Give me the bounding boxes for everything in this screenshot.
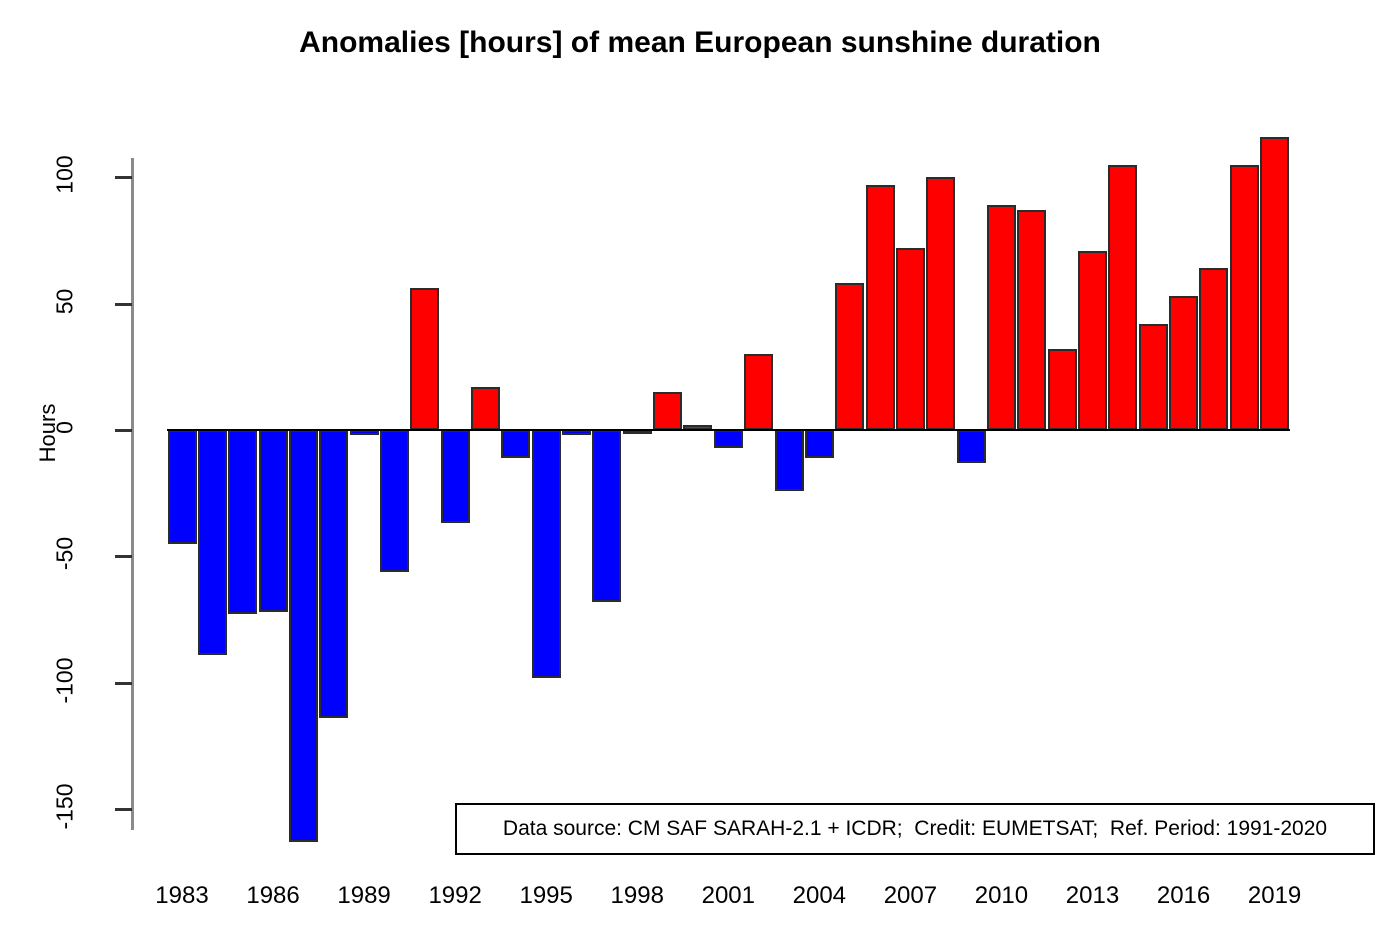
bar-2009 bbox=[957, 430, 986, 463]
bar-2014 bbox=[1108, 165, 1137, 430]
y-axis-tick-label: 50 bbox=[52, 266, 79, 336]
y-axis-tick-label: -50 bbox=[52, 519, 79, 589]
bar-2005 bbox=[835, 283, 864, 430]
bar-1985 bbox=[228, 430, 257, 614]
y-axis-line bbox=[131, 158, 134, 830]
bar-1995 bbox=[532, 430, 561, 678]
x-axis-tick-label: 1989 bbox=[324, 882, 404, 910]
bar-1999 bbox=[653, 392, 682, 430]
bar-2010 bbox=[987, 205, 1016, 430]
plot-area bbox=[150, 120, 1370, 840]
bar-2018 bbox=[1230, 165, 1259, 430]
x-axis-tick-label: 1992 bbox=[415, 882, 495, 910]
bar-1987 bbox=[289, 430, 318, 842]
y-axis-tick-label: -100 bbox=[52, 645, 79, 715]
y-axis-tick bbox=[115, 682, 132, 685]
x-axis-tick-label: 2004 bbox=[779, 882, 859, 910]
bar-1984 bbox=[198, 430, 227, 655]
x-axis-tick-label: 1995 bbox=[506, 882, 586, 910]
x-axis-tick-label: 1998 bbox=[597, 882, 677, 910]
page-title: Anomalies [hours] of mean European sunsh… bbox=[0, 26, 1400, 60]
y-axis-tick bbox=[115, 555, 132, 558]
bar-1986 bbox=[259, 430, 288, 612]
bar-2001 bbox=[714, 430, 743, 448]
bar-1991 bbox=[410, 288, 439, 430]
bar-2017 bbox=[1199, 268, 1228, 430]
bar-2004 bbox=[805, 430, 834, 458]
bar-1983 bbox=[168, 430, 197, 544]
bar-2008 bbox=[926, 177, 955, 430]
y-axis-tick bbox=[115, 429, 132, 432]
bar-1997 bbox=[592, 430, 621, 602]
bar-2011 bbox=[1017, 210, 1046, 430]
y-axis-tick-label: 100 bbox=[52, 140, 79, 210]
y-axis-title: Hours bbox=[35, 363, 61, 503]
bar-1988 bbox=[319, 430, 348, 718]
x-axis-tick-label: 2019 bbox=[1235, 882, 1315, 910]
x-axis-tick-label: 2016 bbox=[1144, 882, 1224, 910]
bar-2002 bbox=[744, 354, 773, 430]
x-axis-tick-label: 2001 bbox=[688, 882, 768, 910]
x-axis-tick-label: 2007 bbox=[870, 882, 950, 910]
bar-2016 bbox=[1169, 296, 1198, 430]
y-axis-tick bbox=[115, 808, 132, 811]
bar-2013 bbox=[1078, 251, 1107, 430]
x-axis-tick-label: 1986 bbox=[233, 882, 313, 910]
x-axis-tick-label: 1983 bbox=[142, 882, 222, 910]
y-axis-tick bbox=[115, 303, 132, 306]
bar-1992 bbox=[441, 430, 470, 523]
y-axis-tick bbox=[115, 176, 132, 179]
bar-2003 bbox=[775, 430, 804, 491]
y-axis-tick-label: -150 bbox=[52, 772, 79, 842]
bar-2012 bbox=[1048, 349, 1077, 430]
bar-2019 bbox=[1260, 137, 1289, 430]
bar-2007 bbox=[896, 248, 925, 430]
zero-baseline bbox=[167, 429, 1291, 431]
x-axis-tick-label: 2013 bbox=[1053, 882, 1133, 910]
caption-text: Data source: CM SAF SARAH-2.1 + ICDR; Cr… bbox=[503, 817, 1327, 841]
bar-2006 bbox=[866, 185, 895, 430]
bar-1990 bbox=[380, 430, 409, 572]
bar-2015 bbox=[1139, 324, 1168, 430]
caption-box: Data source: CM SAF SARAH-2.1 + ICDR; Cr… bbox=[455, 803, 1375, 855]
bar-1994 bbox=[501, 430, 530, 458]
x-axis-tick-label: 2010 bbox=[961, 882, 1041, 910]
bar-1993 bbox=[471, 387, 500, 430]
sunshine-anomaly-chart: Anomalies [hours] of mean European sunsh… bbox=[0, 0, 1400, 940]
